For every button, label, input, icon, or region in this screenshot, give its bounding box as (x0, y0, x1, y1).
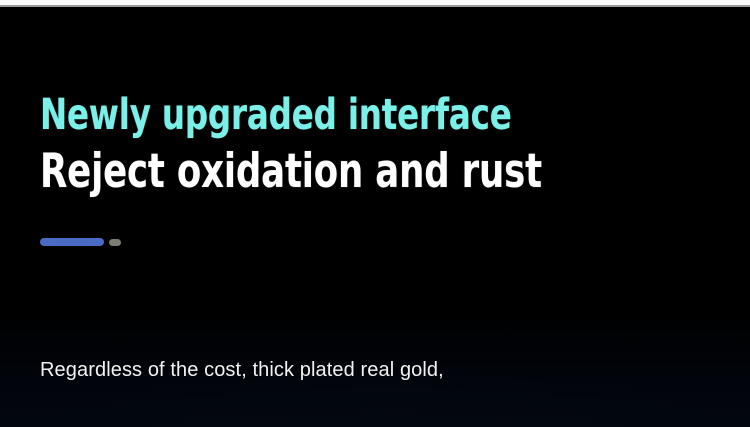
promo-banner: Newly upgraded interface Reject oxidatio… (0, 0, 750, 427)
body-paragraph: Regardless of the cost, thick plated rea… (40, 288, 660, 427)
headline-line-secondary: Reject oxidation and rust (40, 147, 594, 197)
divider-bar (40, 238, 104, 246)
headline-block: Newly upgraded interface Reject oxidatio… (40, 92, 700, 197)
accent-divider (40, 238, 121, 246)
body-line-1: Regardless of the cost, thick plated rea… (40, 354, 660, 387)
banner-content: Newly upgraded interface Reject oxidatio… (40, 0, 720, 427)
divider-dot (109, 239, 121, 246)
headline-line-primary: Newly upgraded interface (40, 92, 594, 138)
